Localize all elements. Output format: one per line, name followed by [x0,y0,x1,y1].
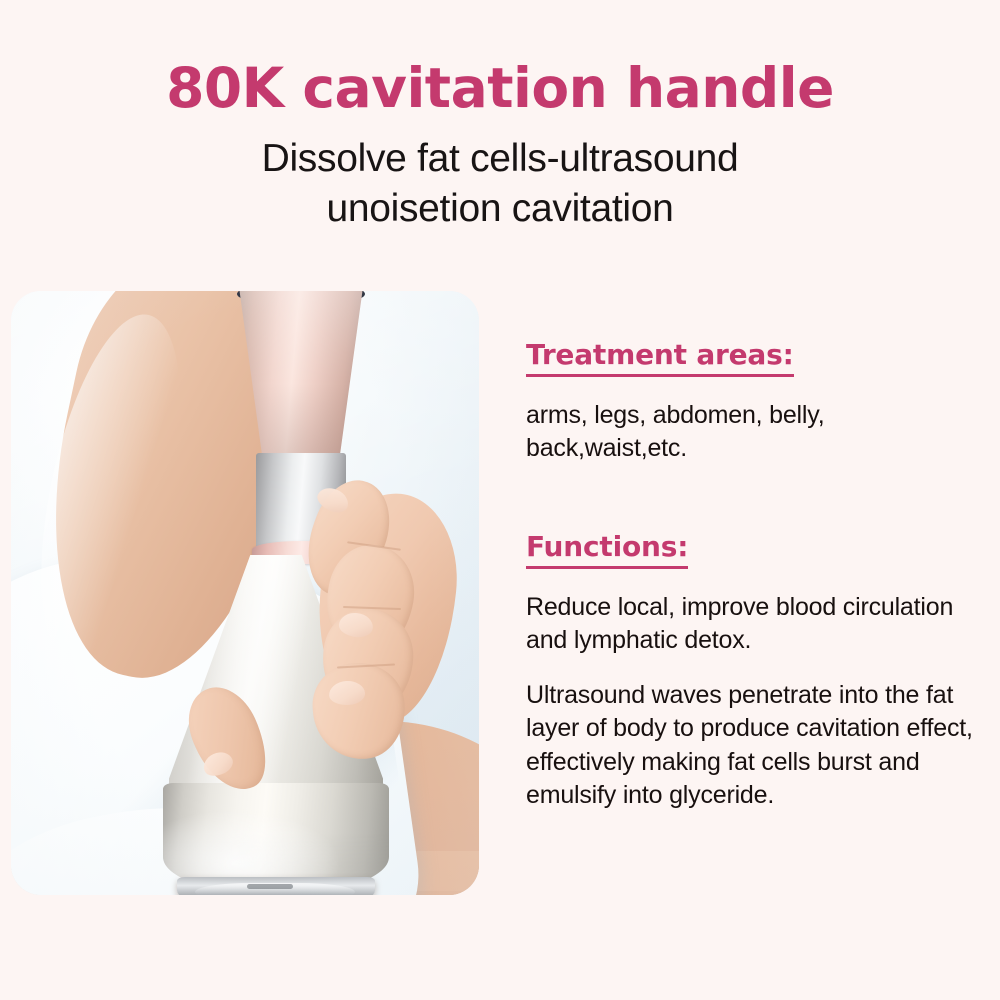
section-treatment-areas: Treatment areas: arms, legs, abdomen, be… [526,338,978,466]
treatment-areas-text: arms, legs, abdomen, belly, back,waist,e… [526,399,978,466]
section-heading-wrapper: Functions: [526,530,978,569]
section-heading-wrapper: Treatment areas: [526,338,978,377]
info-column: Treatment areas: arms, legs, abdomen, be… [526,338,978,812]
product-photo [11,291,479,895]
product-info-page: 80K cavitation handle Dissolve fat cells… [0,0,1000,1000]
header: 80K cavitation handle Dissolve fat cells… [0,0,1000,233]
therapist-hand [151,291,401,895]
hand-thumb [176,676,280,802]
page-subtitle-line-2: unoisetion cavitation [326,187,673,230]
functions-text-1: Reduce local, improve blood circulation … [526,591,978,658]
page-title: 80K cavitation handle [0,58,1000,120]
page-subtitle: Dissolve fat cells-ultrasound unoisetion… [0,134,1000,234]
page-subtitle-line-1: Dissolve fat cells-ultrasound [262,137,739,180]
functions-heading: Functions: [526,530,688,569]
section-functions: Functions: Reduce local, improve blood c… [526,530,978,813]
treatment-areas-heading: Treatment areas: [526,338,794,377]
cavitation-handle-device [151,291,401,895]
functions-text-2: Ultrasound waves penetrate into the fat … [526,679,978,812]
